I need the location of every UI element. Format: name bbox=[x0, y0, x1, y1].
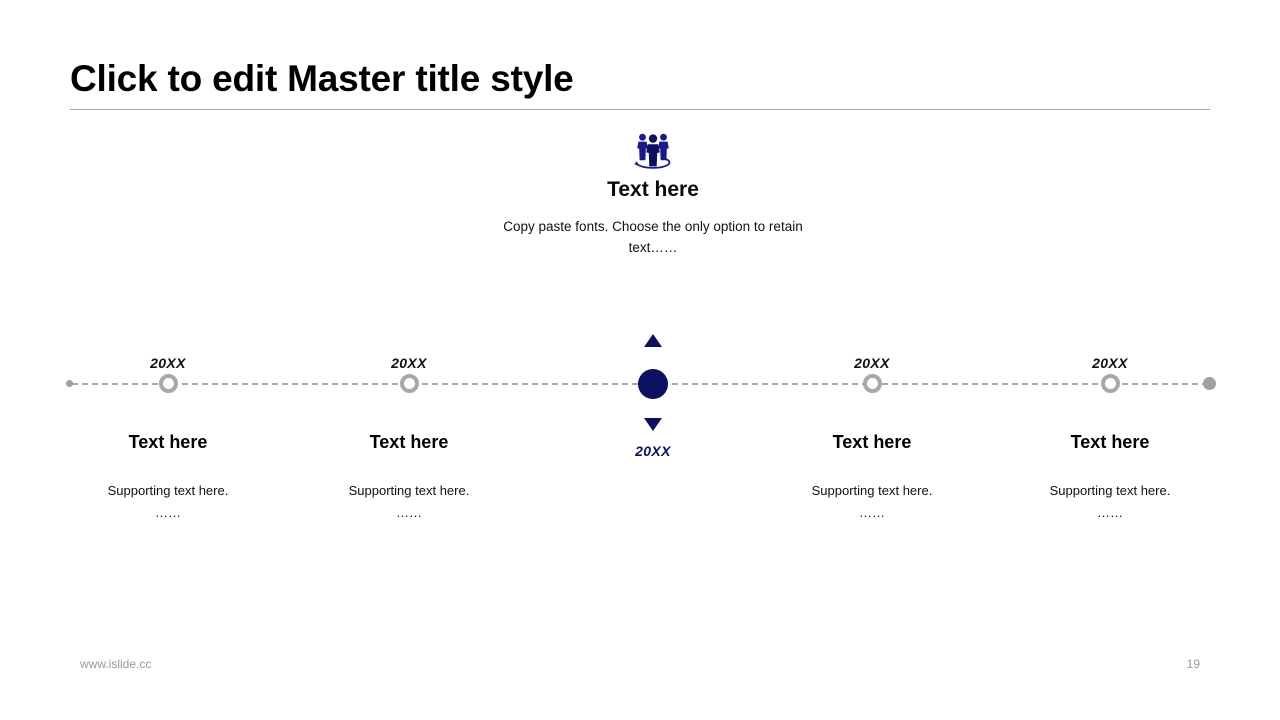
node-year-1: 20XX bbox=[68, 355, 268, 371]
triangle-up-icon bbox=[644, 334, 662, 347]
slide-canvas: Click to edit Master title style Text he… bbox=[0, 0, 1280, 720]
node-title-4: Text here bbox=[772, 431, 972, 453]
center-heading: Text here bbox=[453, 177, 853, 203]
node-year-5: 20XX bbox=[1010, 355, 1210, 371]
title-block: Click to edit Master title style bbox=[70, 56, 1210, 110]
title-divider bbox=[70, 109, 1210, 110]
node-title-2: Text here bbox=[309, 431, 509, 453]
node-dots-1: …… bbox=[68, 505, 268, 521]
people-group-icon bbox=[630, 131, 676, 171]
node-supporting-5: Supporting text here. bbox=[1010, 476, 1210, 505]
center-paragraph: Copy paste fonts. Choose the only option… bbox=[503, 217, 803, 258]
node-marker-3-active[interactable] bbox=[638, 369, 668, 399]
node-marker-4[interactable] bbox=[863, 374, 882, 393]
node-supporting-1: Supporting text here. bbox=[68, 476, 268, 505]
center-header-block: Text here Copy paste fonts. Choose the o… bbox=[453, 131, 853, 258]
timeline-start-dot bbox=[66, 380, 73, 387]
node-supporting-4: Supporting text here. bbox=[772, 476, 972, 505]
node-year-4: 20XX bbox=[772, 355, 972, 371]
node-dots-5: …… bbox=[1010, 505, 1210, 521]
node-dots-4: …… bbox=[772, 505, 972, 521]
node-dots-2: …… bbox=[309, 505, 509, 521]
node-marker-1[interactable] bbox=[159, 374, 178, 393]
node-marker-2[interactable] bbox=[400, 374, 419, 393]
node-year-2: 20XX bbox=[309, 355, 509, 371]
triangle-down-icon bbox=[644, 418, 662, 431]
page-number: 19 bbox=[1160, 657, 1200, 671]
node-title-5: Text here bbox=[1010, 431, 1210, 453]
node-year-3: 20XX bbox=[553, 443, 753, 459]
node-title-1: Text here bbox=[68, 431, 268, 453]
footer-url[interactable]: www.islide.cc bbox=[80, 657, 151, 671]
node-supporting-2: Supporting text here. bbox=[309, 476, 509, 505]
timeline-end-dot bbox=[1203, 377, 1216, 390]
page-title[interactable]: Click to edit Master title style bbox=[70, 56, 1210, 102]
node-marker-5[interactable] bbox=[1101, 374, 1120, 393]
